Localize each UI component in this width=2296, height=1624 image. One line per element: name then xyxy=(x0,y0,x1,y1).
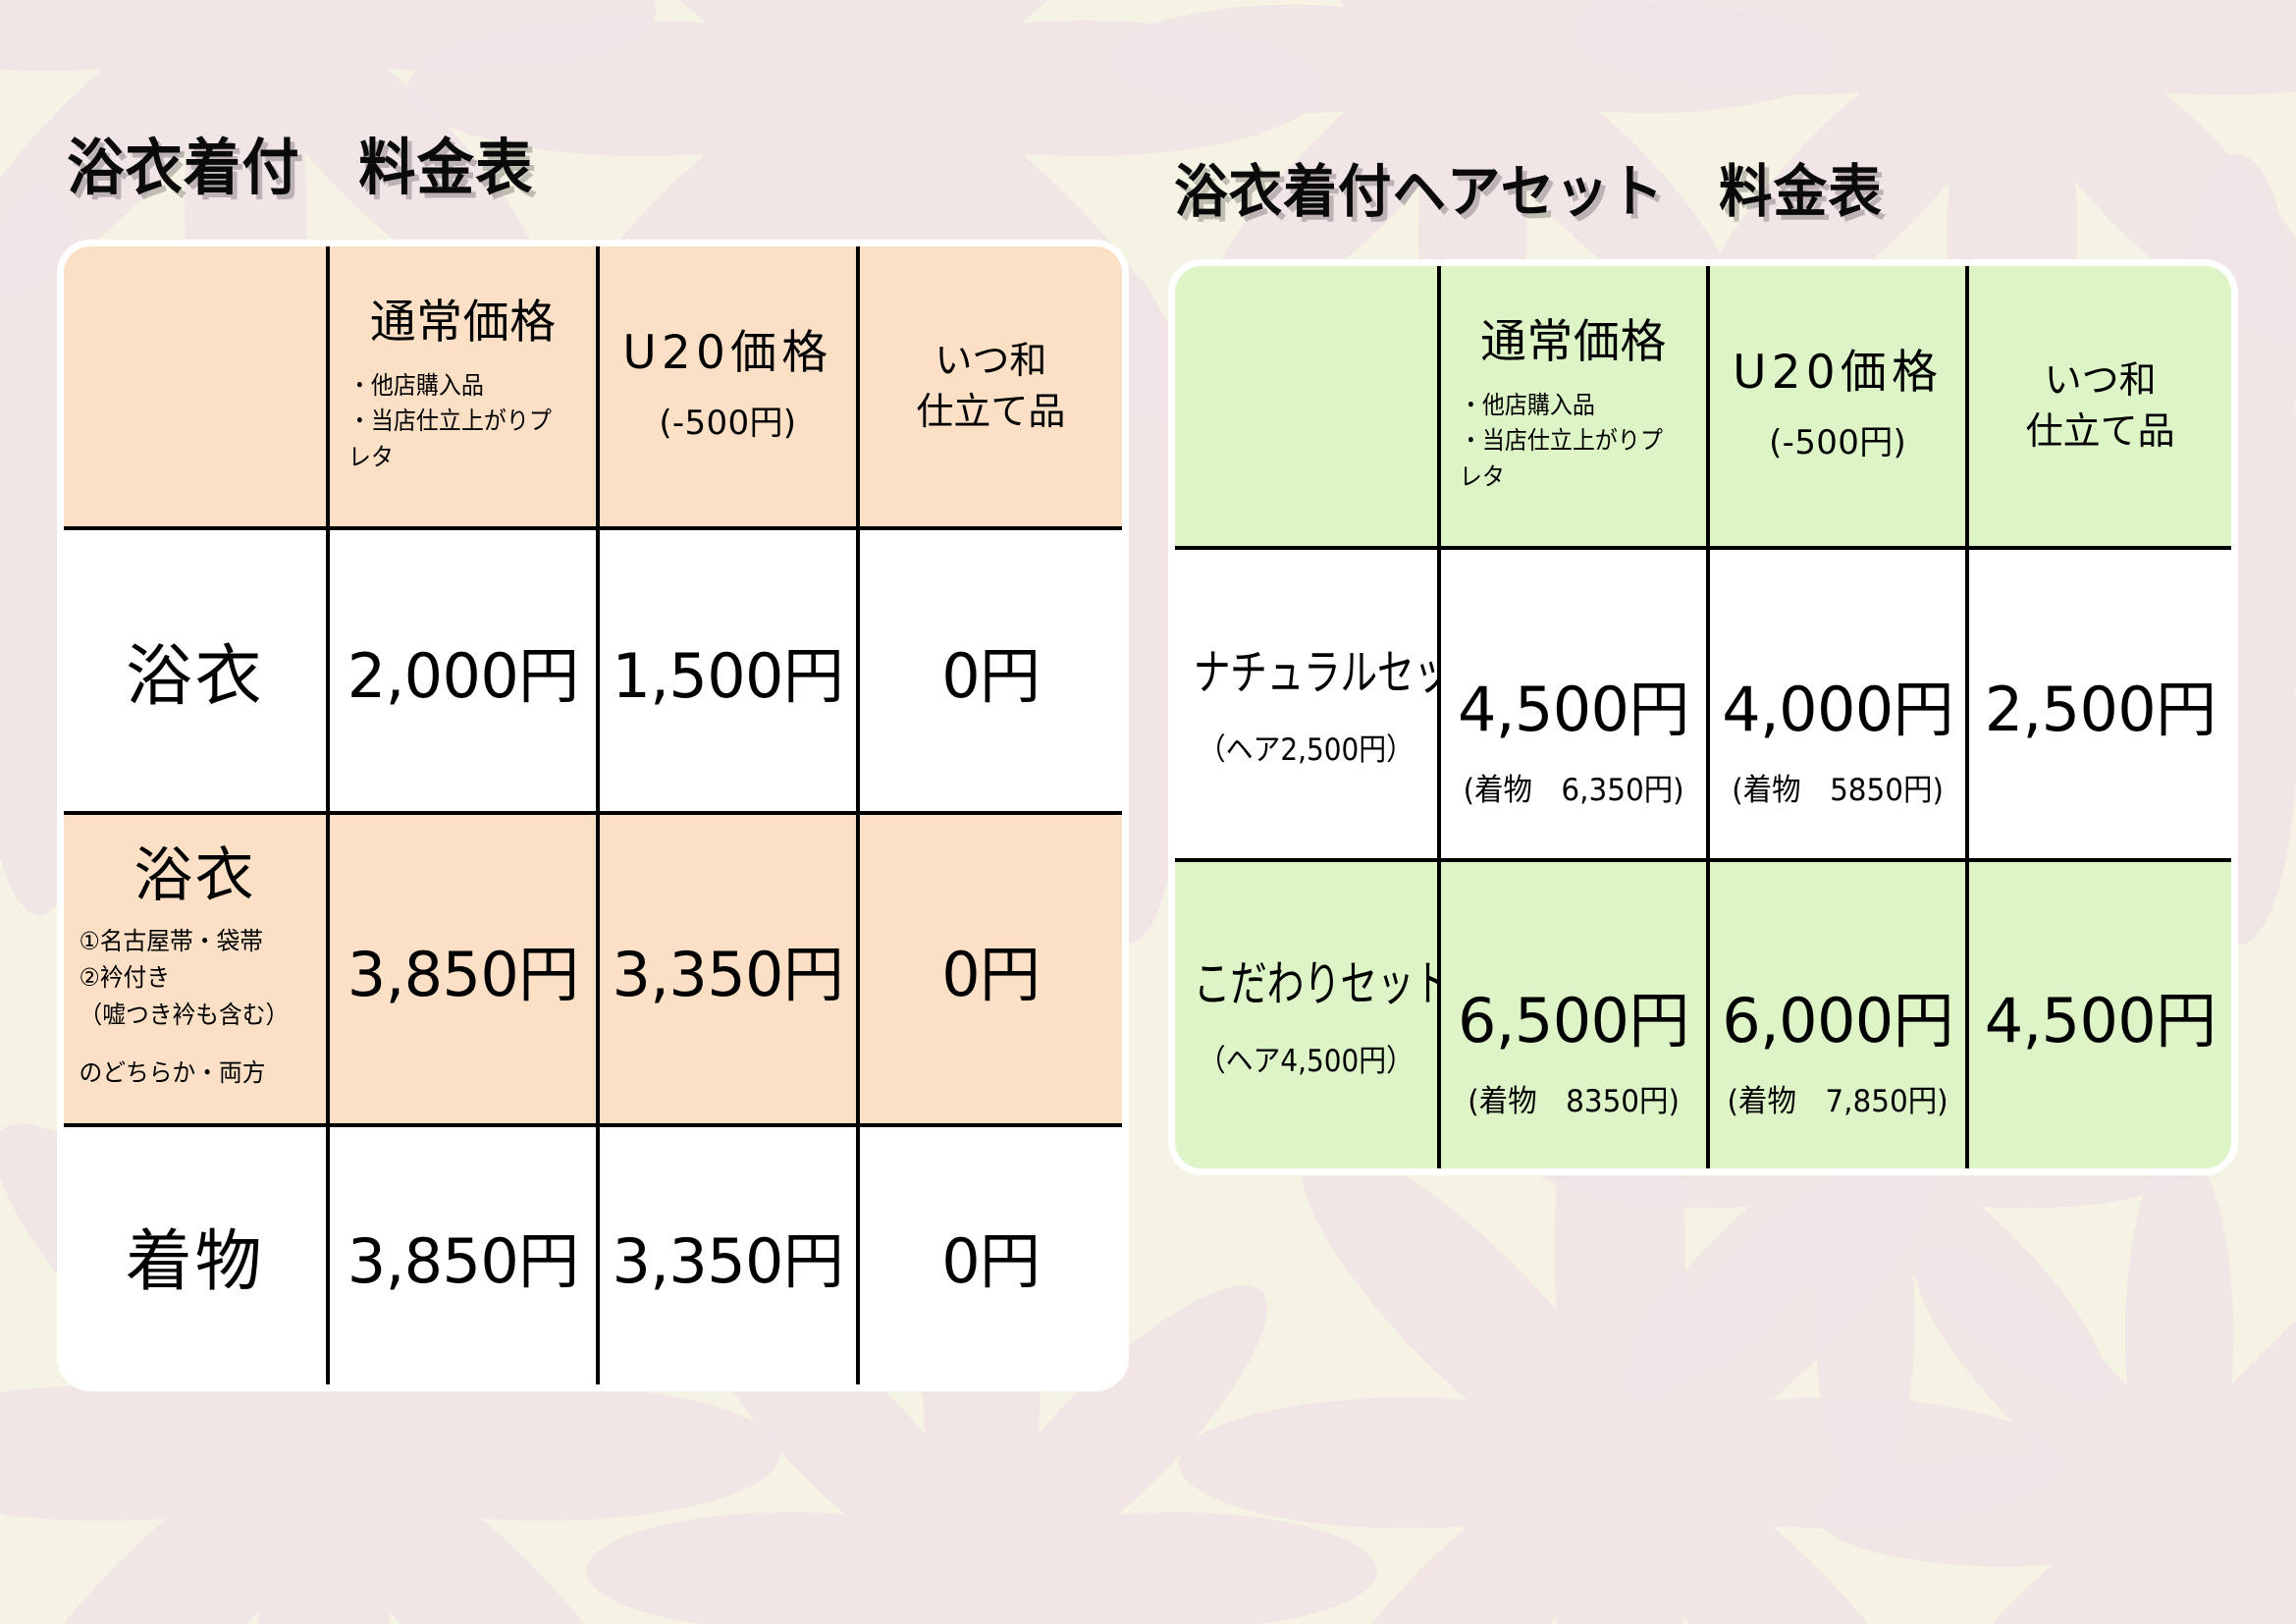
set-name-text: ナチュラルセット xyxy=(1194,633,1418,704)
set-hair-price: （ヘア2,500円） xyxy=(1194,725,1418,769)
right-price-panel: 浴衣着付ヘアセット 料金表 通常価格 ・他店購入品 ・当店仕立上がりプレタ U2… xyxy=(1168,145,2238,1175)
cell-u20-price: 6,000円 (着物 7,850円) xyxy=(1708,860,1967,1172)
price-value: 6,500円 xyxy=(1458,971,1689,1059)
table-header-row: 通常価格 ・他店購入品 ・当店仕立上がりプレタ U20価格 (-500円) いつ… xyxy=(1172,263,2235,548)
cell-itsuwa-price: 0円 xyxy=(858,1125,1126,1388)
yukata-dressing-price-table: 通常価格 ・他店購入品 ・当店仕立上がりプレタ U20価格 (-500円) いつ… xyxy=(57,240,1129,1391)
cell-normal-price: 4,500円 (着物 6,350円) xyxy=(1439,548,1708,860)
header-cell-u20-price: U20価格 (-500円) xyxy=(598,244,858,528)
header-cell-normal-price: 通常価格 ・他店購入品 ・当店仕立上がりプレタ xyxy=(328,244,598,528)
table-row: こだわりセット （ヘア4,500円） 6,500円 (着物 8350円) 6,0… xyxy=(1172,860,2235,1172)
table-row: 浴衣 2,000円 1,500円 0円 xyxy=(61,528,1126,813)
cell-itsuwa-price: 0円 xyxy=(858,813,1126,1125)
table-header-row: 通常価格 ・他店購入品 ・当店仕立上がりプレタ U20価格 (-500円) いつ… xyxy=(61,244,1126,528)
yukata-hairset-price-table: 通常価格 ・他店購入品 ・当店仕立上がりプレタ U20価格 (-500円) いつ… xyxy=(1168,259,2238,1175)
header-itsuwa-label: いつ和 仕立て品 xyxy=(866,335,1116,438)
row-label-yukata-with-obi: 浴衣 ①名古屋帯・袋帯 ②衿付き （嘘つき衿も含む） のどちらか・両方 xyxy=(61,813,329,1125)
header-cell-u20-price: U20価格 (-500円) xyxy=(1708,263,1967,548)
table-row: 浴衣 ①名古屋帯・袋帯 ②衿付き （嘘つき衿も含む） のどちらか・両方 3,85… xyxy=(61,813,1126,1125)
header-u20-discount-note: (-500円) xyxy=(1716,415,1959,463)
kimono-price-note: (着物 5850円) xyxy=(1722,765,1953,809)
cell-itsuwa-price: 4,500円 xyxy=(1967,860,2234,1172)
right-panel-title: 浴衣着付ヘアセット 料金表 xyxy=(1174,145,2174,228)
price-value: 4,500円 xyxy=(1458,660,1689,748)
cell-u20-price: 4,000円 (着物 5850円) xyxy=(1708,548,1967,860)
header-normal-price-note: ・他店購入品 ・当店仕立上がりプレタ xyxy=(336,368,569,475)
row-label-kodawari-set: こだわりセット （ヘア4,500円） xyxy=(1172,860,1439,1172)
row-label-kimono: 着物 xyxy=(61,1125,329,1388)
row-label-text: 浴衣 xyxy=(70,846,320,905)
header-normal-price-label: 通常価格 xyxy=(1447,317,1700,369)
header-cell-itsuwa: いつ和 仕立て品 xyxy=(1967,263,2234,548)
set-name-text: こだわりセット xyxy=(1194,945,1418,1015)
table-row: 着物 3,850円 3,350円 0円 xyxy=(61,1125,1126,1388)
left-panel-title: 浴衣着付 料金表 xyxy=(67,118,1065,206)
cell-normal-price: 6,500円 (着物 8350円) xyxy=(1439,860,1708,1172)
header-cell-blank xyxy=(1172,263,1439,548)
cell-itsuwa-price: 2,500円 xyxy=(1967,548,2234,860)
row-label-yukata: 浴衣 xyxy=(61,528,329,813)
row-label-note: ①名古屋帯・袋帯 ②衿付き （嘘つき衿も含む） xyxy=(70,923,307,1034)
price-value: 6,000円 xyxy=(1722,971,1953,1059)
kimono-price-note: (着物 7,850円) xyxy=(1722,1076,1953,1120)
row-label-text: 浴衣 xyxy=(70,622,320,719)
price-value: 4,000円 xyxy=(1722,660,1953,748)
kimono-price-note: (着物 8350円) xyxy=(1453,1076,1693,1120)
table-row: ナチュラルセット （ヘア2,500円） 4,500円 (着物 6,350円) 4… xyxy=(1172,548,2235,860)
header-u20-price-label: U20価格 xyxy=(1716,348,1959,400)
cell-u20-price: 1,500円 xyxy=(598,528,858,813)
header-normal-price-note: ・他店購入品 ・当店仕立上がりプレタ xyxy=(1447,388,1681,495)
cell-itsuwa-price: 0円 xyxy=(858,528,1126,813)
row-label-note-2: のどちらか・両方 xyxy=(70,1055,307,1092)
cell-normal-price: 2,000円 xyxy=(328,528,598,813)
cell-normal-price: 3,850円 xyxy=(328,813,598,1125)
header-cell-normal-price: 通常価格 ・他店購入品 ・当店仕立上がりプレタ xyxy=(1439,263,1708,548)
header-u20-discount-note: (-500円) xyxy=(606,396,850,444)
cell-u20-price: 3,350円 xyxy=(598,1125,858,1388)
row-label-text: 着物 xyxy=(70,1207,320,1304)
cell-normal-price: 3,850円 xyxy=(328,1125,598,1388)
header-normal-price-label: 通常価格 xyxy=(336,298,590,350)
header-itsuwa-label: いつ和 仕立て品 xyxy=(1975,354,2225,458)
set-hair-price: （ヘア4,500円） xyxy=(1194,1036,1418,1080)
left-price-panel: 浴衣着付 料金表 通常価格 ・他店購入品 ・当店仕立上がりプレタ U20価格 (… xyxy=(57,118,1129,1391)
row-label-natural-set: ナチュラルセット （ヘア2,500円） xyxy=(1172,548,1439,860)
header-u20-price-label: U20価格 xyxy=(606,328,850,380)
header-cell-blank xyxy=(61,244,329,528)
kimono-price-note: (着物 6,350円) xyxy=(1453,765,1693,809)
header-cell-itsuwa: いつ和 仕立て品 xyxy=(858,244,1126,528)
pricing-poster: 浴衣着付 料金表 通常価格 ・他店購入品 ・当店仕立上がりプレタ U20価格 (… xyxy=(0,0,2296,1624)
cell-u20-price: 3,350円 xyxy=(598,813,858,1125)
